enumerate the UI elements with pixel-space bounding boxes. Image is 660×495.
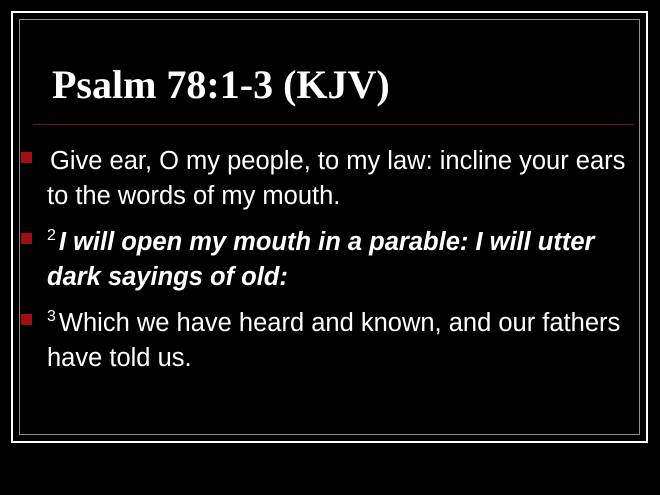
list-item: 2I will open my mouth in a parable: I wi… (20, 218, 632, 295)
square-bullet-icon (21, 233, 32, 244)
square-bullet-icon (21, 314, 32, 325)
bullet-text: 3Which we have heard and known, and our … (47, 299, 632, 376)
list-item: Give ear, O my people, to my law: inclin… (20, 137, 632, 214)
bullet-text: Give ear, O my people, to my law: inclin… (47, 137, 632, 214)
scripture-bullet-list: Give ear, O my people, to my law: inclin… (20, 137, 632, 380)
verse-text: Which we have heard and known, and our f… (47, 309, 620, 372)
presentation-slide: Psalm 78:1-3 (KJV) Give ear, O my people… (0, 0, 660, 495)
list-item: 3Which we have heard and known, and our … (20, 299, 632, 376)
verse-number: 3 (47, 308, 59, 325)
verse-text: Give ear, O my people, to my law: inclin… (47, 147, 625, 210)
verse-text: I will open my mouth in a parable: I wil… (47, 228, 594, 291)
slide-title: Psalm 78:1-3 (KJV) (52, 60, 612, 110)
verse-number: 2 (47, 227, 59, 244)
bullet-text: 2I will open my mouth in a parable: I wi… (47, 218, 632, 295)
square-bullet-icon (21, 152, 32, 163)
title-divider-rule (33, 124, 634, 125)
